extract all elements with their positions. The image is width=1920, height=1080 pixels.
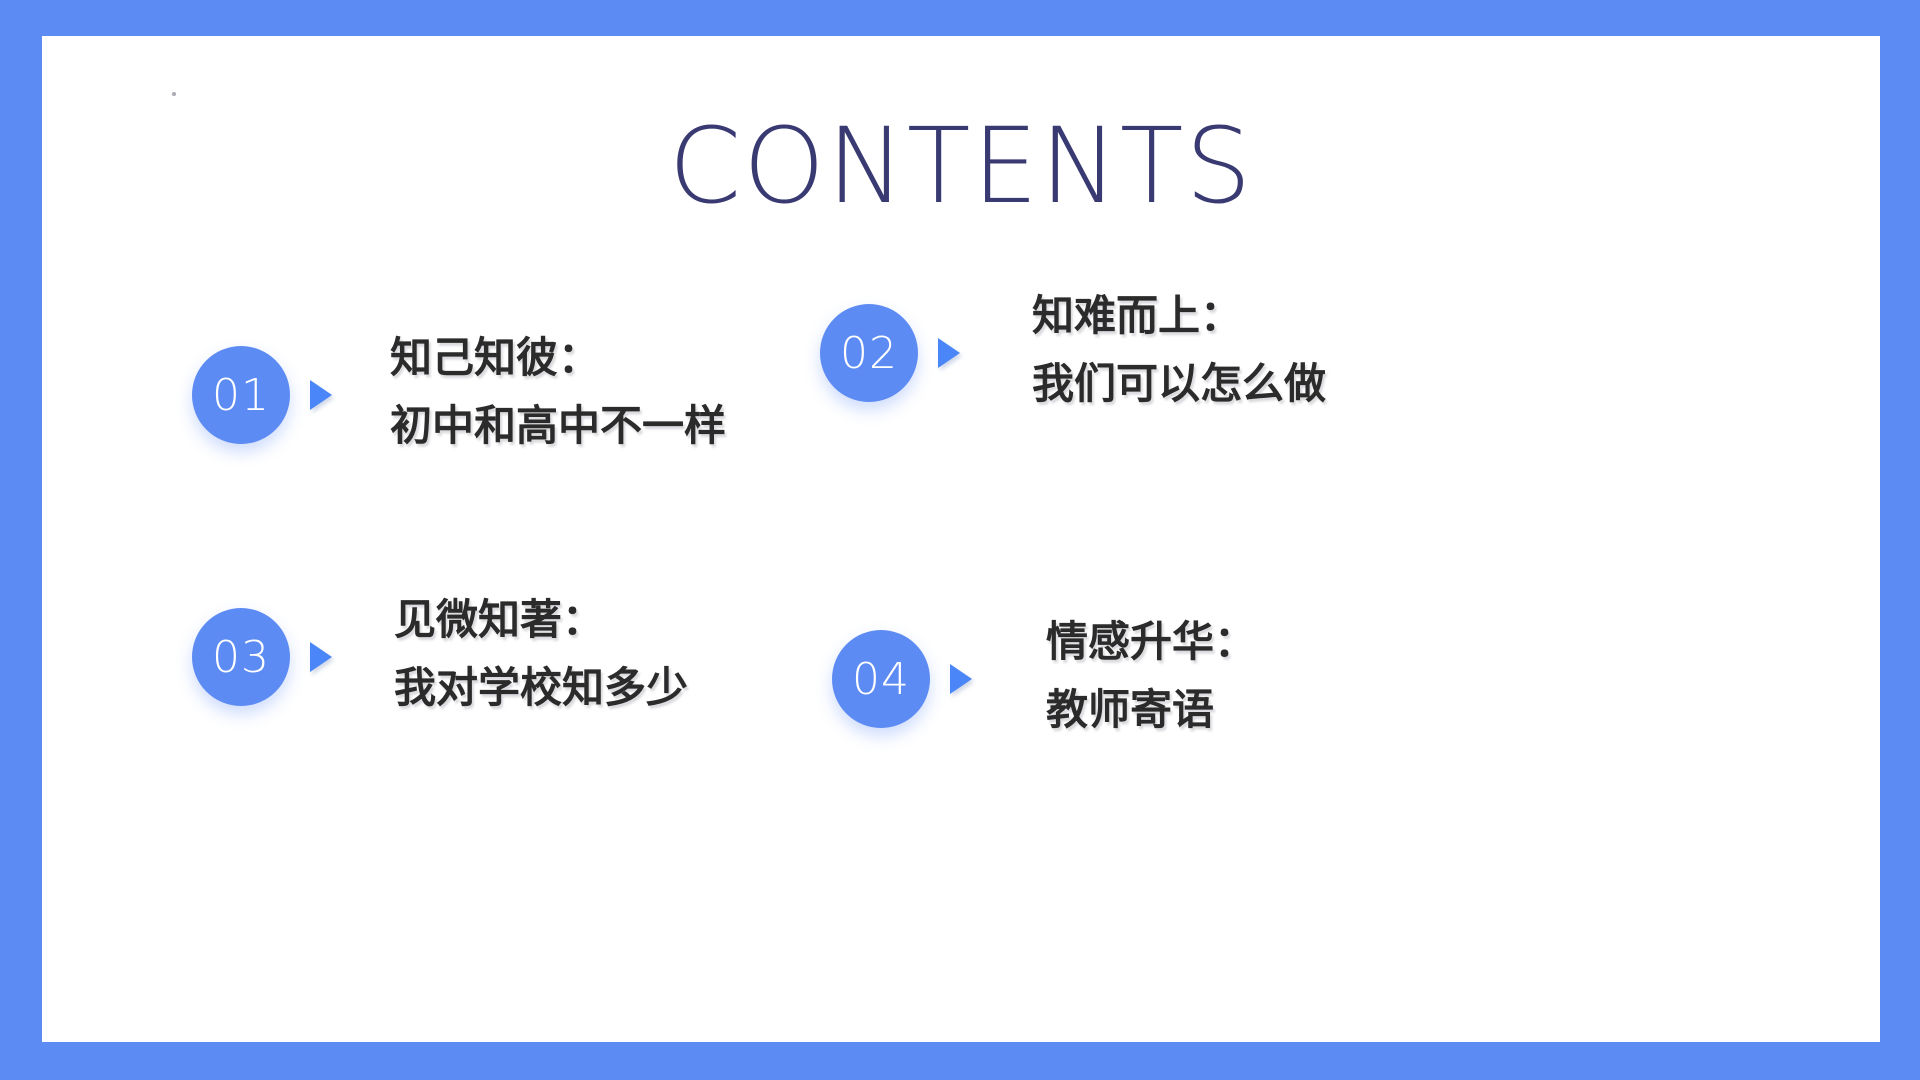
item-01-marker: 01 bbox=[192, 346, 332, 444]
item-02-marker: 02 bbox=[820, 304, 960, 402]
item-04-text: 情感升华： 教师寄语 bbox=[1046, 608, 1256, 744]
item-02-line2: 我们可以怎么做 bbox=[1032, 350, 1326, 418]
contents-item-04[interactable]: 04 情感升华： 教师寄语 bbox=[832, 630, 1256, 744]
item-04-marker: 04 bbox=[832, 630, 972, 728]
item-04-line1: 情感升华： bbox=[1046, 608, 1256, 676]
item-01-number-badge[interactable]: 01 bbox=[192, 346, 290, 444]
contents-item-03[interactable]: 03 见微知著： 我对学校知多少 bbox=[192, 608, 688, 722]
triangle-right-icon bbox=[310, 380, 332, 410]
item-02-line1: 知难而上： bbox=[1032, 282, 1326, 350]
item-02-text: 知难而上： 我们可以怎么做 bbox=[1032, 282, 1326, 418]
triangle-right-icon bbox=[938, 338, 960, 368]
stray-mark bbox=[172, 92, 176, 96]
presentation-slide: CONTENTS 01 知己知彼： 初中和高中不一样 02 知难而上： bbox=[0, 0, 1920, 1080]
page-title: CONTENTS bbox=[42, 114, 1880, 218]
contents-item-01[interactable]: 01 知己知彼： 初中和高中不一样 bbox=[192, 346, 726, 460]
item-01-line1: 知己知彼： bbox=[390, 324, 726, 392]
item-01-text: 知己知彼： 初中和高中不一样 bbox=[390, 324, 726, 460]
item-03-number-badge[interactable]: 03 bbox=[192, 608, 290, 706]
triangle-right-icon bbox=[950, 664, 972, 694]
triangle-right-icon bbox=[310, 642, 332, 672]
item-04-number-badge[interactable]: 04 bbox=[832, 630, 930, 728]
item-03-line1: 见微知著： bbox=[394, 586, 688, 654]
item-03-line2: 我对学校知多少 bbox=[394, 654, 688, 722]
item-03-marker: 03 bbox=[192, 608, 332, 706]
item-03-text: 见微知著： 我对学校知多少 bbox=[394, 586, 688, 722]
item-04-line2: 教师寄语 bbox=[1046, 676, 1256, 744]
slide-content-panel: CONTENTS 01 知己知彼： 初中和高中不一样 02 知难而上： bbox=[42, 36, 1880, 1042]
item-02-number-badge[interactable]: 02 bbox=[820, 304, 918, 402]
contents-item-02[interactable]: 02 知难而上： 我们可以怎么做 bbox=[820, 304, 1326, 418]
item-01-line2: 初中和高中不一样 bbox=[390, 392, 726, 460]
contents-list: 01 知己知彼： 初中和高中不一样 02 知难而上： 我们可以怎么做 bbox=[42, 336, 1920, 856]
